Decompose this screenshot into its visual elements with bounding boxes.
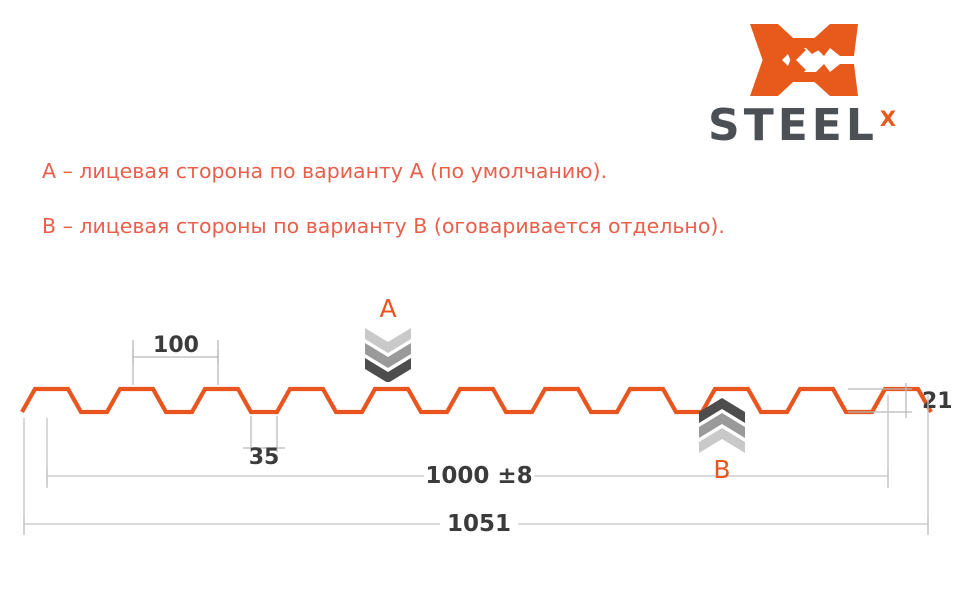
dimension-pitch-100: 100: [133, 333, 218, 385]
dimension-useful-width-1000: 1000 ±8: [47, 395, 888, 489]
marker-side-a: А: [361, 296, 415, 382]
chevron-up-icon: [695, 398, 749, 454]
profile-technical-drawing: 100 35 21 1000 ±8: [0, 0, 970, 593]
drawing-canvas: STEEL X А – лицевая сторона по варианту …: [0, 0, 970, 593]
marker-side-b: В: [695, 398, 749, 482]
chevron-down-icon: [361, 326, 415, 382]
dimension-useful-width-1000-label: 1000 ±8: [425, 463, 532, 489]
dimension-overall-width-1051-label: 1051: [447, 511, 511, 537]
marker-side-b-letter: В: [695, 457, 749, 482]
profile-cross-section-line: [22, 389, 931, 412]
dimension-trough-35: 35: [243, 416, 285, 470]
dimension-trough-35-label: 35: [249, 445, 280, 470]
marker-side-a-letter: А: [361, 296, 415, 321]
dimension-height-21-label: 21: [922, 389, 953, 414]
dimension-pitch-100-label: 100: [153, 333, 199, 358]
